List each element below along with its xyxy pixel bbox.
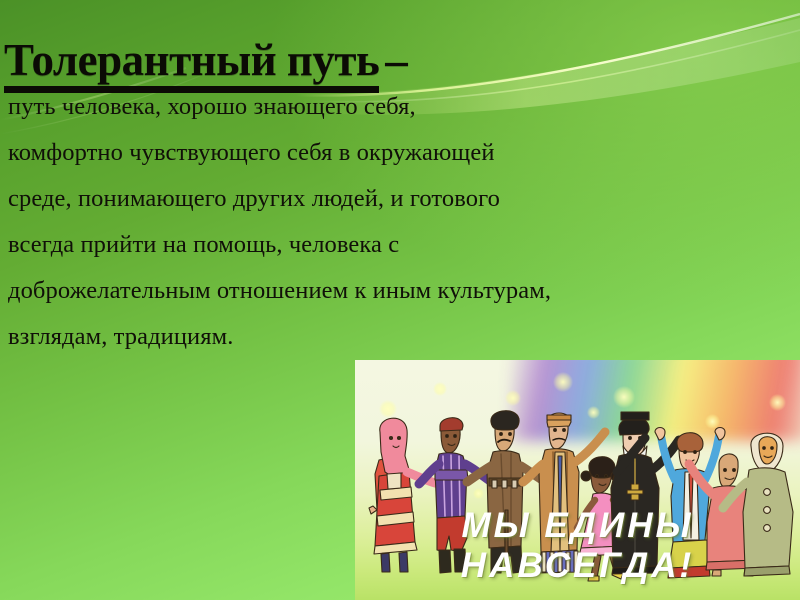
illustration-caption: МЫ ЕДИНЫ НАВСЕГДА! xyxy=(355,506,800,586)
body-line-5: доброжелательным отношением к иным культ… xyxy=(8,268,708,314)
body-line-4: всегда прийти на помощь, человека с xyxy=(8,222,708,268)
slide-canvas: Толерантный путь– путь человека, хорошо … xyxy=(0,0,800,600)
body-line-3: среде, понимающего других людей, и готов… xyxy=(8,176,708,222)
page-title-dash: – xyxy=(379,35,407,85)
body-line-6: взглядам, традициям. xyxy=(8,314,708,360)
body-paragraph: путь человека, хорошо знающего себя, ком… xyxy=(8,84,708,360)
body-line-2: комфортно чувствующего себя в окружающей xyxy=(8,130,708,176)
page-title: Толерантный путь– xyxy=(4,35,407,85)
illustration-unity-of-peoples: МЫ ЕДИНЫ НАВСЕГДА! xyxy=(355,360,800,600)
body-line-1: путь человека, хорошо знающего себя, xyxy=(8,84,708,130)
